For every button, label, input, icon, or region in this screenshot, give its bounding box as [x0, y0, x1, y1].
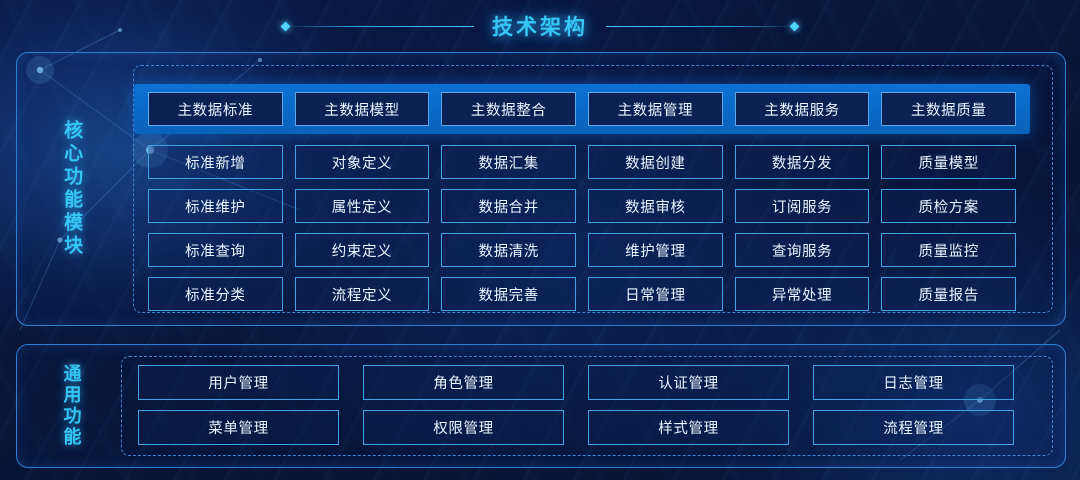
common-function-grid: 用户管理 角色管理 认证管理 日志管理 菜单管理 权限管理 样式管理 流程管理 — [120, 360, 1032, 450]
core-cell[interactable]: 流程定义 — [295, 277, 430, 311]
header-cell-standard[interactable]: 主数据标准 — [148, 92, 283, 126]
header-cell-model[interactable]: 主数据模型 — [295, 92, 430, 126]
core-grid-row: 标准分类 流程定义 数据完善 日常管理 异常处理 质量报告 — [134, 272, 1030, 316]
core-cell[interactable]: 标准分类 — [148, 277, 283, 311]
common-cell[interactable]: 日志管理 — [813, 365, 1014, 400]
core-cell[interactable]: 标准维护 — [148, 189, 283, 223]
core-cell[interactable]: 维护管理 — [588, 233, 723, 267]
core-grid-row: 标准维护 属性定义 数据合并 数据审核 订阅服务 质检方案 — [134, 184, 1030, 228]
common-cell[interactable]: 用户管理 — [138, 365, 339, 400]
core-function-grid: 标准新增 对象定义 数据汇集 数据创建 数据分发 质量模型 标准维护 属性定义 … — [134, 140, 1030, 316]
common-cell[interactable]: 样式管理 — [588, 410, 789, 445]
master-data-header-band: 主数据标准 主数据模型 主数据整合 主数据管理 主数据服务 主数据质量 — [134, 84, 1030, 134]
diamond-marker-left-icon — [281, 21, 291, 31]
core-cell[interactable]: 数据完善 — [441, 277, 576, 311]
common-grid-row: 菜单管理 权限管理 样式管理 流程管理 — [120, 405, 1032, 450]
diagram-canvas: 技术架构 核心功能模块 主数据标准 主数据模型 主数据整合 主数据管理 主数据服… — [0, 0, 1080, 480]
core-cell[interactable]: 质量报告 — [881, 277, 1016, 311]
core-cell[interactable]: 数据合并 — [441, 189, 576, 223]
core-cell[interactable]: 数据创建 — [588, 145, 723, 179]
header-cell-integration[interactable]: 主数据整合 — [441, 92, 576, 126]
core-cell[interactable]: 数据清洗 — [441, 233, 576, 267]
core-cell[interactable]: 约束定义 — [295, 233, 430, 267]
header-cell-management[interactable]: 主数据管理 — [588, 92, 723, 126]
common-cell[interactable]: 菜单管理 — [138, 410, 339, 445]
core-cell[interactable]: 质检方案 — [881, 189, 1016, 223]
core-cell[interactable]: 对象定义 — [295, 145, 430, 179]
core-cell[interactable]: 数据汇集 — [441, 145, 576, 179]
core-grid-row: 标准新增 对象定义 数据汇集 数据创建 数据分发 质量模型 — [134, 140, 1030, 184]
common-cell[interactable]: 权限管理 — [363, 410, 564, 445]
common-panel-side-label: 通用功能 — [17, 345, 125, 467]
header-cell-service[interactable]: 主数据服务 — [735, 92, 870, 126]
diagram-title-row: 技术架构 — [0, 6, 1080, 46]
common-grid-row: 用户管理 角色管理 认证管理 日志管理 — [120, 360, 1032, 405]
diamond-marker-right-icon — [790, 21, 800, 31]
core-cell[interactable]: 标准查询 — [148, 233, 283, 267]
title-rule-right — [606, 26, 796, 27]
core-cell[interactable]: 数据分发 — [735, 145, 870, 179]
core-panel-side-label-text: 核心功能模块 — [59, 120, 83, 258]
common-cell[interactable]: 角色管理 — [363, 365, 564, 400]
core-cell[interactable]: 查询服务 — [735, 233, 870, 267]
core-cell[interactable]: 订阅服务 — [735, 189, 870, 223]
core-cell[interactable]: 属性定义 — [295, 189, 430, 223]
title-rule-left — [284, 26, 474, 27]
core-cell[interactable]: 异常处理 — [735, 277, 870, 311]
core-cell[interactable]: 日常管理 — [588, 277, 723, 311]
core-cell[interactable]: 标准新增 — [148, 145, 283, 179]
common-cell[interactable]: 流程管理 — [813, 410, 1014, 445]
common-panel-side-label-text: 通用功能 — [59, 364, 82, 448]
header-cell-quality[interactable]: 主数据质量 — [881, 92, 1016, 126]
core-panel-side-label: 核心功能模块 — [17, 53, 125, 325]
core-grid-row: 标准查询 约束定义 数据清洗 维护管理 查询服务 质量监控 — [134, 228, 1030, 272]
page-title: 技术架构 — [474, 11, 606, 41]
core-cell[interactable]: 质量模型 — [881, 145, 1016, 179]
common-cell[interactable]: 认证管理 — [588, 365, 789, 400]
core-cell[interactable]: 数据审核 — [588, 189, 723, 223]
core-cell[interactable]: 质量监控 — [881, 233, 1016, 267]
